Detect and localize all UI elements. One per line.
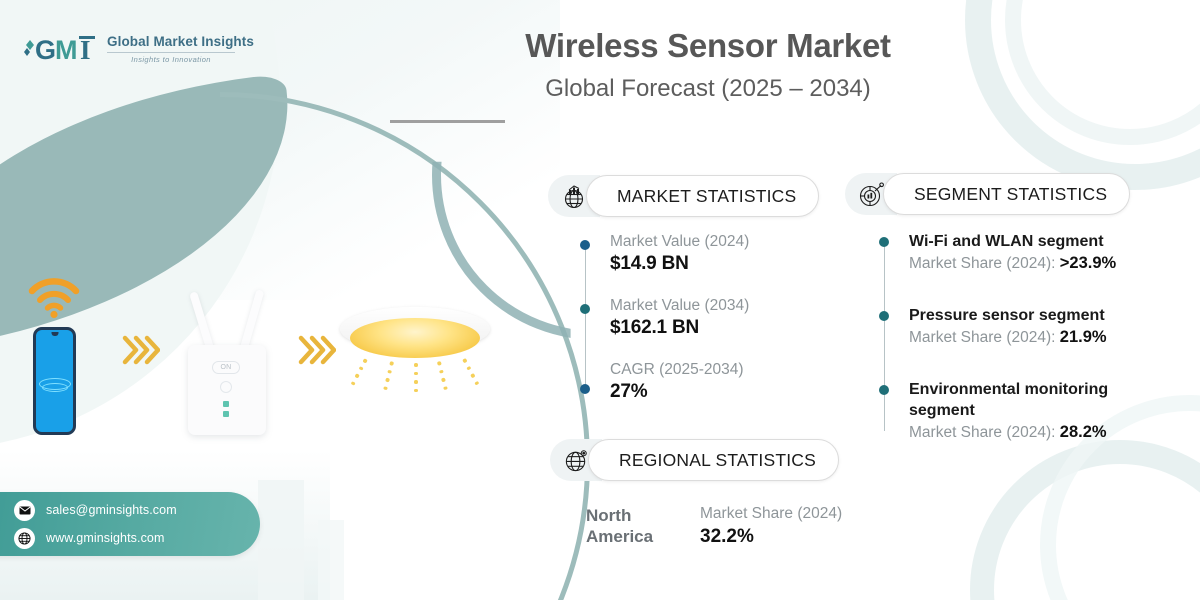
cagr-value: 27% bbox=[610, 381, 828, 403]
market-statistics-timeline: Market Value (2024) $14.9 BN Market Valu… bbox=[580, 233, 828, 403]
brand-logo[interactable]: G M I Global Market Insights Insights to… bbox=[22, 32, 254, 66]
segment-statistics-label: SEGMENT STATISTICS bbox=[914, 184, 1107, 205]
region-name: North America bbox=[586, 505, 678, 548]
light-ray bbox=[414, 363, 418, 397]
svg-text:M: M bbox=[55, 35, 78, 65]
light-ray bbox=[462, 358, 481, 390]
page-subtitle: Global Forecast (2025 – 2034) bbox=[388, 75, 1028, 103]
header: Wireless Sensor Market Global Forecast (… bbox=[388, 28, 1028, 123]
brand-name: Global Market Insights bbox=[107, 35, 254, 49]
lamp-glow bbox=[350, 318, 480, 358]
timeline-dot bbox=[879, 237, 889, 247]
bg-vertical-band bbox=[258, 480, 304, 600]
globe-icon bbox=[14, 528, 35, 549]
title-underline bbox=[390, 120, 505, 123]
page-title: Wireless Sensor Market bbox=[388, 28, 1028, 64]
list-item: Pressure sensor segment Market Share (20… bbox=[879, 305, 1175, 347]
contact-email-row[interactable]: sales@gminsights.com bbox=[14, 500, 260, 521]
market-value-2034-label: Market Value (2034) bbox=[610, 297, 828, 315]
segment-title: Pressure sensor segment bbox=[909, 305, 1175, 326]
segment-share: Market Share (2024): 21.9% bbox=[909, 328, 1175, 347]
router-power-button[interactable] bbox=[220, 381, 232, 393]
segment-share-value: 21.9% bbox=[1060, 328, 1107, 346]
contact-website-row[interactable]: www.gminsights.com bbox=[14, 528, 260, 549]
list-item: Wi-Fi and WLAN segment Market Share (202… bbox=[879, 231, 1175, 273]
infographic-canvas: G M I Global Market Insights Insights to… bbox=[0, 0, 1200, 600]
timeline-dot bbox=[879, 385, 889, 395]
list-item: Environmental monitoring segment Market … bbox=[879, 379, 1175, 442]
market-statistics-panel: MARKET STATISTICS Market Value (2024) $1… bbox=[548, 175, 828, 403]
bg-ring-top-right-inner bbox=[1005, 0, 1200, 145]
region-share-block: Market Share (2024) 32.2% bbox=[700, 505, 842, 548]
light-ray bbox=[382, 361, 394, 395]
segment-share-label: Market Share (2024): bbox=[909, 424, 1060, 441]
segment-statistics-pill[interactable]: SEGMENT STATISTICS bbox=[883, 173, 1130, 215]
segment-share-value: 28.2% bbox=[1060, 423, 1107, 441]
contact-bar: sales@gminsights.com www.gminsights.com bbox=[0, 492, 260, 556]
router-antenna-right bbox=[240, 289, 265, 351]
segment-share: Market Share (2024): >23.9% bbox=[909, 254, 1175, 273]
segment-share-label: Market Share (2024): bbox=[909, 329, 1060, 346]
wifi-router-icon: ON bbox=[172, 285, 280, 435]
segment-share-label: Market Share (2024): bbox=[909, 255, 1060, 272]
market-statistics-header[interactable]: MARKET STATISTICS bbox=[548, 175, 828, 217]
bg-ring-bottom-right bbox=[970, 440, 1200, 600]
market-statistics-label: MARKET STATISTICS bbox=[617, 186, 796, 207]
phone-signal-ring-inner bbox=[42, 383, 68, 392]
market-value-2024-value: $14.9 BN bbox=[610, 253, 828, 275]
timeline-dot bbox=[580, 304, 590, 314]
market-value-2024-label: Market Value (2024) bbox=[610, 233, 828, 251]
router-led bbox=[223, 401, 229, 407]
phone-notch bbox=[51, 332, 58, 336]
light-ray bbox=[437, 361, 449, 395]
light-ray bbox=[348, 358, 367, 390]
list-item: Market Value (2024) $14.9 BN bbox=[580, 233, 828, 275]
segment-title: Wi-Fi and WLAN segment bbox=[909, 231, 1175, 252]
list-item: Market Value (2034) $162.1 BN bbox=[580, 297, 828, 339]
signal-chevron-icon bbox=[296, 333, 336, 367]
envelope-icon bbox=[14, 500, 35, 521]
logo-divider bbox=[107, 52, 235, 53]
market-value-2034-value: $162.1 BN bbox=[610, 317, 828, 339]
region-share-label: Market Share (2024) bbox=[700, 505, 842, 523]
timeline-dot bbox=[879, 311, 889, 321]
gmi-logo-icon: G M I bbox=[22, 32, 98, 66]
segment-statistics-panel: SEGMENT STATISTICS Wi-Fi and WLAN segmen… bbox=[845, 173, 1175, 442]
smartphone-icon bbox=[33, 327, 76, 435]
signal-chevron-icon bbox=[120, 333, 160, 367]
contact-website: www.gminsights.com bbox=[46, 531, 165, 545]
regional-statistics-header[interactable]: REGIONAL STATISTICS bbox=[550, 439, 870, 481]
contact-email: sales@gminsights.com bbox=[46, 503, 177, 517]
wifi-signal-icon bbox=[26, 277, 82, 324]
segment-statistics-timeline: Wi-Fi and WLAN segment Market Share (202… bbox=[879, 231, 1175, 442]
segment-share: Market Share (2024): 28.2% bbox=[909, 423, 1175, 442]
region-share-value: 32.2% bbox=[700, 526, 842, 548]
bg-vertical-band-2 bbox=[318, 520, 344, 600]
smart-ceiling-light-icon bbox=[340, 307, 490, 383]
svg-text:I: I bbox=[80, 35, 91, 65]
wireless-sensor-illustration: ON bbox=[0, 265, 510, 455]
regional-statistics-pill[interactable]: REGIONAL STATISTICS bbox=[588, 439, 839, 481]
segment-statistics-header[interactable]: SEGMENT STATISTICS bbox=[845, 173, 1175, 215]
svg-text:G: G bbox=[35, 35, 56, 65]
timeline-dot bbox=[580, 240, 590, 250]
brand-tagline: Insights to Innovation bbox=[107, 56, 235, 64]
regional-statistics-body: North America Market Share (2024) 32.2% bbox=[550, 505, 870, 548]
regional-statistics-panel: REGIONAL STATISTICS North America Market… bbox=[550, 439, 870, 548]
list-item: CAGR (2025-2034) 27% bbox=[580, 361, 828, 403]
timeline-dot bbox=[580, 384, 590, 394]
segment-share-value: >23.9% bbox=[1060, 254, 1116, 272]
regional-statistics-label: REGIONAL STATISTICS bbox=[619, 450, 816, 471]
router-antenna-left bbox=[189, 291, 215, 353]
router-led bbox=[223, 411, 229, 417]
market-statistics-pill[interactable]: MARKET STATISTICS bbox=[586, 175, 819, 217]
router-on-label: ON bbox=[212, 361, 240, 374]
segment-title: Environmental monitoring segment bbox=[909, 379, 1144, 421]
cagr-label: CAGR (2025-2034) bbox=[610, 361, 828, 379]
